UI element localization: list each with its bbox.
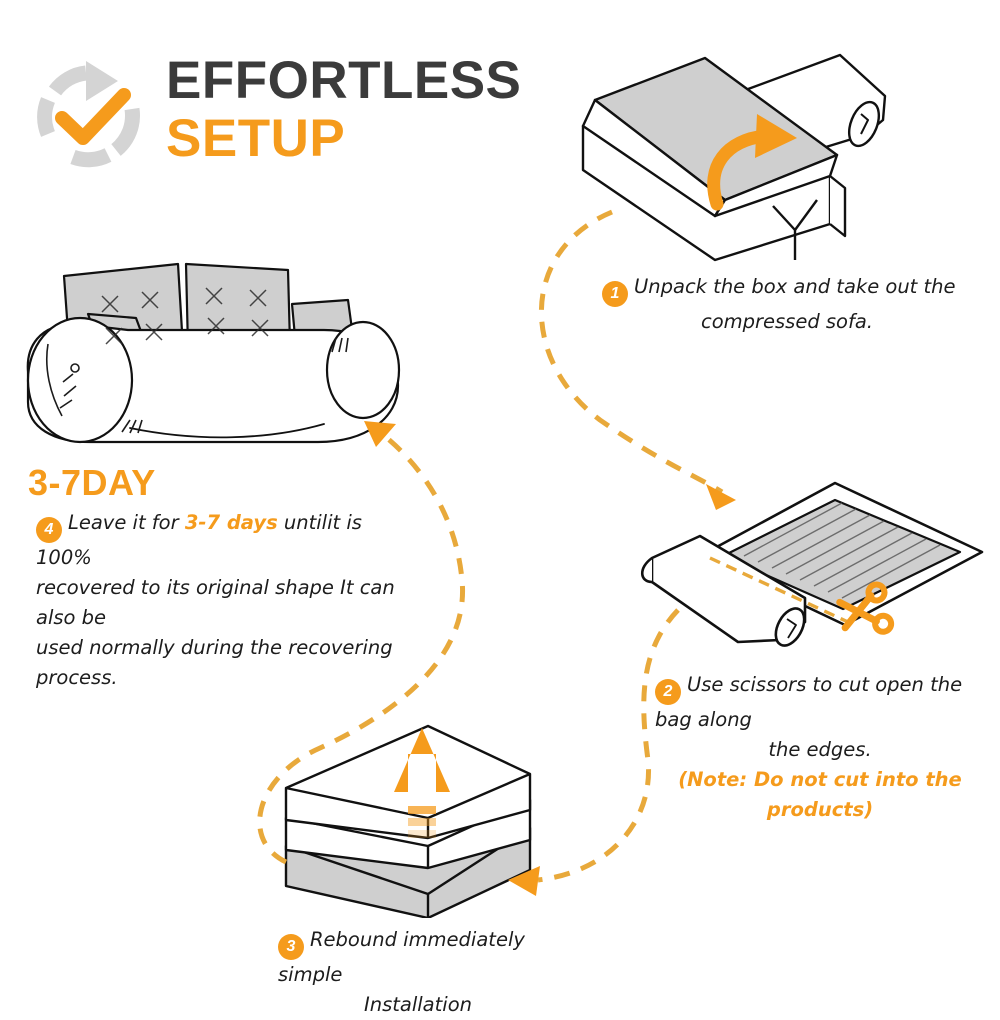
vacuum-bag-illustration [630,470,995,670]
carton-box-illustration [565,48,925,268]
infographic-canvas: EFFORTLESS SETUP [0,0,1000,1000]
title-line-1: EFFORTLESS [166,52,546,110]
step-4-highlight: 3-7 days [185,511,278,534]
step-4-badge: 4 [36,517,62,543]
step-3-text: 3Rebound immediately simple Installation [278,925,558,1020]
step-2-text: 2Use scissors to cut open the bag along … [655,670,985,825]
sofa-illustration [18,252,418,457]
header: EFFORTLESS SETUP [28,52,548,182]
step-4-text-pre: Leave it for [68,511,185,534]
step-1-badge: 1 [602,281,628,307]
step-1-text: 1Unpack the box and take out the compres… [602,272,972,337]
step-2-line-2: the edges. [655,735,985,765]
step-1-line-1: Unpack the box and take out the [634,275,956,298]
title-line-2: SETUP [166,110,546,168]
step-3-line-2: Installation [278,990,558,1020]
step-2-badge: 2 [655,679,681,705]
step-1-line-2: compressed sofa. [602,307,972,337]
step-4-line-2: recovered to its original shape It can a… [36,573,396,633]
day-label: 3-7DAY [28,462,156,504]
foam-block-illustration [268,718,568,918]
step-4-text: 4Leave it for 3-7 days untilit is 100% r… [36,508,396,693]
step-3-line-1: Rebound immediately simple [278,928,525,986]
step-2-line-1: Use scissors to cut open the bag along [655,673,962,731]
page-title: EFFORTLESS SETUP [166,52,546,168]
step-3-badge: 3 [278,934,304,960]
step-4-line-3: used normally during the recovering proc… [36,633,396,693]
step-2-note: (Note: Do not cut into the products) [655,765,985,825]
refresh-check-icon [28,56,150,178]
